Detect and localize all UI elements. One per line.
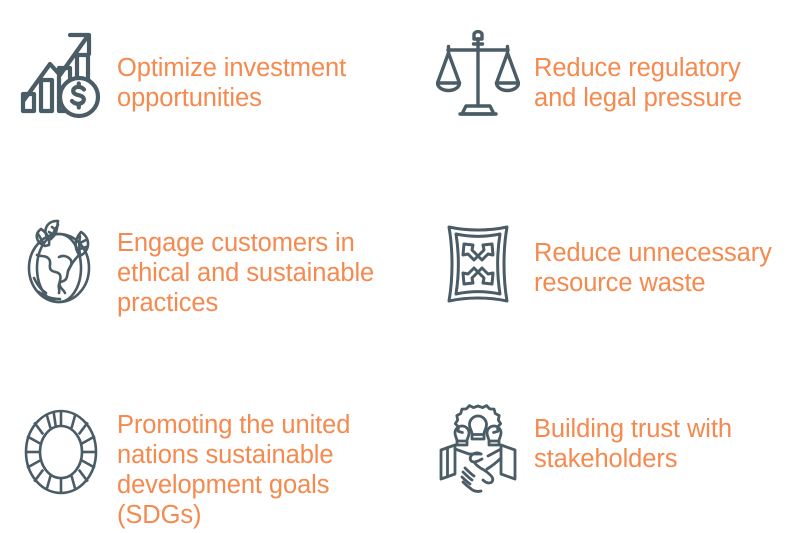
handshake-people-gear-icon [435, 402, 521, 506]
benefit-label: Promoting the united nations sustainable… [117, 410, 420, 530]
benefit-item-optimize-investment[interactable]: Optimize investment opportunities [0, 0, 420, 190]
benefit-label: Optimize investment opportunities [117, 53, 346, 113]
compress-frame-arrows-icon [435, 216, 521, 320]
benefit-label: Reduce unnecessary resource waste [534, 238, 772, 298]
benefits-infographic: Optimize investment opportunities [0, 0, 800, 533]
benefit-item-building-trust[interactable]: Building trust with stakeholders [420, 380, 800, 533]
benefit-label: Engage customers in ethical and sustaina… [117, 228, 374, 318]
sdg-wheel-icon [18, 402, 104, 506]
benefit-item-reduce-regulatory[interactable]: Reduce regulatory and legal pressure [420, 0, 800, 190]
benefits-grid: Optimize investment opportunities [0, 0, 800, 533]
growth-chart-dollar-icon [18, 22, 104, 126]
balance-scales-icon [435, 22, 521, 126]
globe-leaves-icon [18, 216, 104, 320]
benefit-label: Reduce regulatory and legal pressure [534, 53, 742, 113]
benefit-item-reduce-waste[interactable]: Reduce unnecessary resource waste [420, 190, 800, 380]
benefit-item-promoting-sdgs[interactable]: Promoting the united nations sustainable… [0, 380, 420, 533]
benefit-item-engage-customers[interactable]: Engage customers in ethical and sustaina… [0, 190, 420, 380]
benefit-label: Building trust with stakeholders [534, 414, 732, 474]
